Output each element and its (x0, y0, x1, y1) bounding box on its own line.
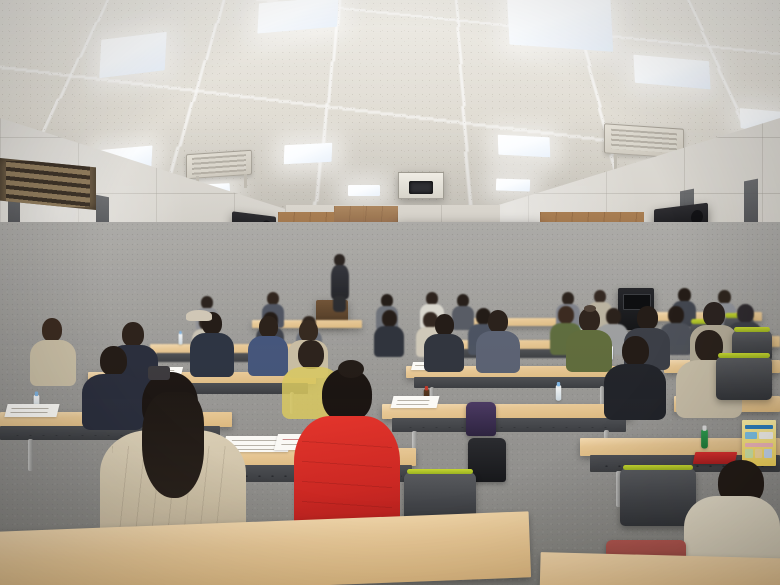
attendee-head (259, 316, 278, 338)
paper-text-line (12, 408, 49, 409)
cap (186, 310, 212, 321)
water-bottle (556, 385, 562, 400)
attendee-head (382, 310, 397, 327)
backpack-floor (466, 402, 496, 436)
leaflet-panel (764, 449, 771, 457)
attendee-head (299, 320, 318, 342)
presenter-legs (333, 296, 346, 312)
attendee-head (435, 314, 454, 336)
hair-clip (584, 305, 596, 312)
attendee-torso (30, 340, 76, 386)
desk-leg (28, 439, 33, 471)
hand-washing-education-leaflet (742, 420, 776, 466)
ceiling-panel-light (498, 135, 551, 158)
desk-panel (414, 377, 622, 388)
leaflet-banner (745, 425, 774, 430)
attendee-hair (142, 392, 204, 498)
attendee-head (298, 340, 324, 369)
attendee-head (42, 318, 62, 342)
ceiling-panel-light (496, 178, 530, 191)
chair-seat-trim (623, 465, 693, 470)
attendee-torso (476, 331, 520, 373)
leaflet-panel (745, 432, 757, 439)
attendee-head (703, 302, 725, 327)
ceiling-panel-light (348, 185, 380, 196)
water-bottle (179, 333, 183, 344)
attendee-head (622, 336, 649, 366)
attendee-head (737, 304, 754, 323)
hair-clip (148, 366, 170, 380)
attendee-head (668, 306, 684, 324)
attendee-head (637, 306, 658, 330)
attendee (30, 318, 76, 384)
presenter (330, 254, 350, 312)
ceiling-air-vent (186, 150, 252, 180)
leaflet-panel (759, 432, 773, 439)
paper-text-line (396, 404, 428, 405)
attendee-torso (374, 326, 404, 357)
paper-text-line (11, 412, 48, 413)
vent-support (614, 154, 617, 170)
chair-seat-trim (407, 469, 473, 474)
attendee-torso (190, 333, 234, 377)
desk-foreground-right (539, 552, 780, 585)
attendee (424, 314, 464, 370)
lecture-hall-photo: 식품의약품안전처 2025 사회복지시설 식중독 예방 특별교육 2025년 1… (0, 0, 780, 585)
green-beverage-bottle (701, 430, 708, 449)
hair-bun (338, 360, 364, 378)
chair-empty (716, 356, 772, 400)
paper-text-line (397, 400, 429, 401)
desk-panel (392, 418, 626, 432)
attendee (476, 310, 520, 370)
attendee (374, 310, 404, 356)
presenter-torso (331, 265, 349, 299)
leaflet-panel (745, 443, 774, 447)
ceiling-panel-light (284, 143, 333, 165)
ceiling-projector (398, 172, 444, 199)
attendee-torso (604, 364, 666, 420)
leaflet-panel (755, 449, 762, 457)
attendee-head (678, 288, 691, 302)
attendee-head (122, 322, 144, 347)
attendee-head (488, 310, 508, 333)
leaflet-panel (745, 449, 752, 457)
vent-support (244, 174, 247, 188)
chair-seat-trim (718, 353, 770, 358)
attendee-with-cap (186, 310, 212, 326)
ceiling-panel-light (507, 0, 613, 52)
attendee (604, 336, 666, 416)
attendee-torso (424, 334, 464, 372)
handout-paper (4, 404, 59, 417)
